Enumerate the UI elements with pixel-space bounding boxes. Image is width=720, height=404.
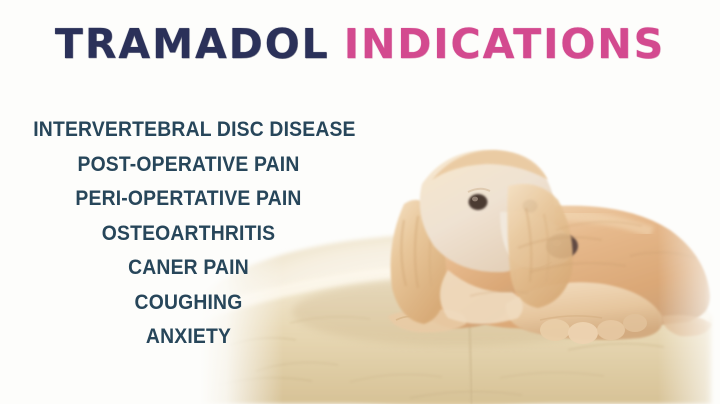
list-item: COUGHING [33,285,344,320]
dog [388,150,712,344]
title-word-indications: INDICATIONS [344,24,665,65]
indications-list: INTERVERTEBRAL DISC DISEASE POST-OPERATI… [16,112,361,354]
list-item: POST-OPERATIVE PAIN [33,147,344,182]
infographic-canvas: TRAMADOLINDICATIONS INTERVERTEBRAL DISC … [0,0,720,404]
list-item: INTERVERTEBRAL DISC DISEASE [33,112,344,147]
list-item: PERI-OPERTATIVE PAIN [33,181,344,216]
list-item: OSTEOARTHRITIS [33,216,344,251]
list-item: CANER PAIN [33,250,344,285]
list-item: ANXIETY [33,319,344,354]
title-word-tramadol: TRAMADOL [55,24,330,65]
page-title: TRAMADOLINDICATIONS [0,24,720,65]
